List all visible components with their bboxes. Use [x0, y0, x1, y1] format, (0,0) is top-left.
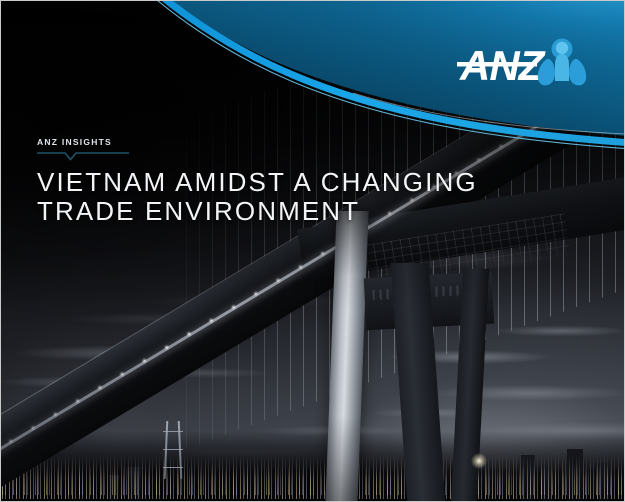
eyebrow-rule-icon: [37, 152, 129, 161]
report-cover-page: ANZ ANZ INSIGHTS Vietnam amidst a changi…: [0, 0, 625, 502]
cover-title: Vietnam amidst a changing trade environm…: [37, 168, 597, 226]
city-lights-secondary: [1, 465, 624, 495]
street-lamp-glow: [471, 453, 487, 469]
eyebrow-label: ANZ INSIGHTS: [37, 137, 267, 148]
eyebrow-block: ANZ INSIGHTS: [37, 137, 267, 161]
cover-background-photo: [1, 1, 624, 501]
